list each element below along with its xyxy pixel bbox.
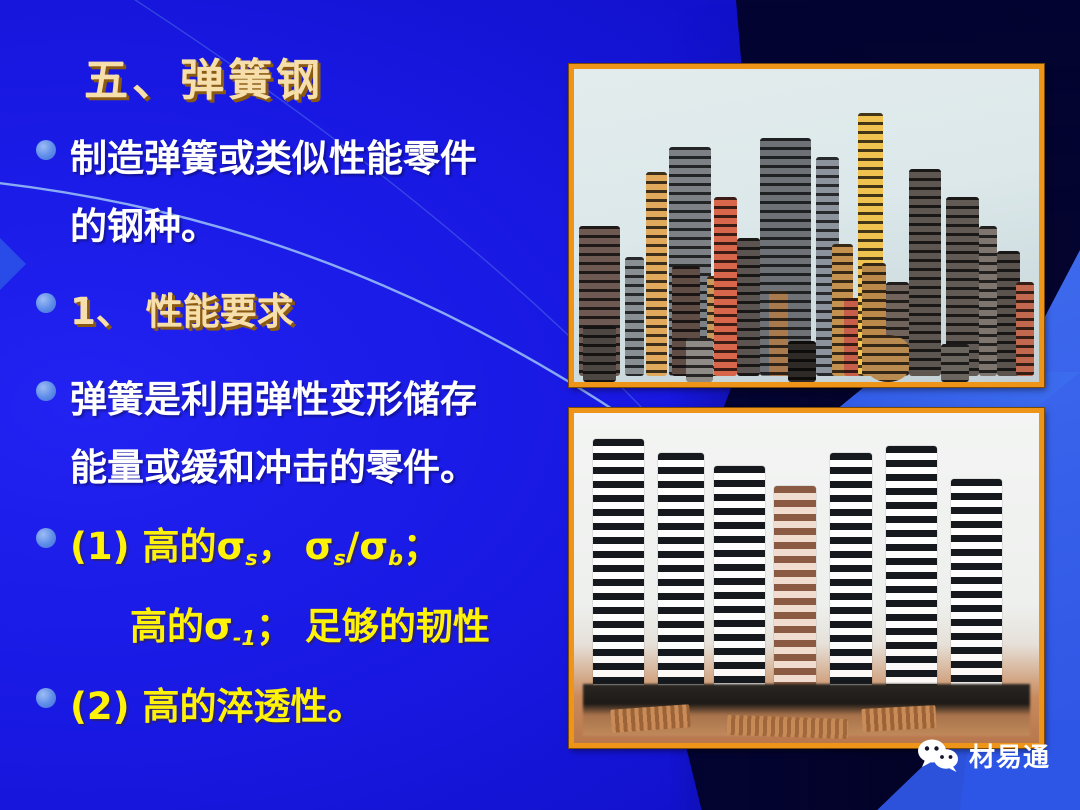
bullet-dot-icon: [36, 528, 56, 548]
bullet-text: 的钢种。: [70, 208, 218, 245]
sigma-glyph: σ: [359, 525, 388, 568]
bullet-text: 弹簧是利用弹性变形储存: [70, 381, 477, 418]
bullet-item-5: (2) 高的淬透性。: [36, 688, 364, 725]
bullet-item-4-cont: 高的σ-1；足够的韧性: [130, 608, 490, 645]
sigma-glyph: σ: [305, 525, 334, 568]
bullet-item-1-cont: 的钢种。: [36, 208, 218, 245]
page-title: 五、弹簧钢: [84, 44, 324, 108]
bullet-dot-icon: [36, 688, 56, 708]
requirement-formula-line-1: (1) 高的σs，σs/σb；: [70, 528, 440, 565]
sigma-glyph: σ: [204, 605, 233, 648]
wechat-icon: [917, 739, 961, 773]
watermark-label: 材易通: [969, 737, 1050, 774]
bullet-dot-icon: [36, 140, 56, 160]
image-content: [574, 413, 1039, 743]
formula-semicolon: ；: [256, 605, 293, 648]
formula-semicolon: ；: [403, 525, 440, 568]
image-springs-dark-coil-row: [569, 408, 1044, 748]
sigma-subscript-s: s: [333, 546, 345, 570]
section-heading-text: 1、 性能要求: [70, 293, 294, 330]
bullet-text: 能量或缓和冲击的零件。: [70, 449, 477, 486]
bullet-item-4: (1) 高的σs，σs/σb；: [36, 528, 440, 565]
sigma-subscript-minus1: -1: [233, 626, 256, 650]
bullet-indent-spacer: [36, 208, 56, 228]
formula-suffix: 足够的韧性: [305, 605, 490, 648]
watermark: 材易通: [917, 737, 1050, 774]
formula-comma: ，: [258, 525, 295, 568]
bullet-dot-icon: [36, 381, 56, 401]
bullet-item-1: 制造弹簧或类似性能零件: [36, 140, 477, 177]
formula-prefix: (1) 高的: [70, 525, 216, 568]
sigma-glyph: σ: [216, 525, 245, 568]
bullet-indent-spacer: [36, 449, 56, 469]
formula-slash: /: [346, 525, 360, 568]
requirement-formula-line-2: 高的σ-1；足够的韧性: [130, 608, 490, 645]
bullet-item-3: 弹簧是利用弹性变形储存: [36, 381, 477, 418]
image-content: [574, 69, 1039, 382]
bullet-item-2: 1、 性能要求: [36, 293, 294, 330]
bullet-item-3-cont: 能量或缓和冲击的零件。: [36, 449, 477, 486]
sigma-subscript-b: b: [388, 546, 403, 570]
sigma-subscript-s: s: [245, 546, 257, 570]
bullet-dot-icon: [36, 293, 56, 313]
bullet-text: 制造弹簧或类似性能零件: [70, 140, 477, 177]
presentation-slide: 五、弹簧钢 制造弹簧或类似性能零件 的钢种。 1、 性能要求 弹簧是利用弹性变形…: [0, 0, 1080, 810]
image-springs-assorted-colored: [569, 64, 1044, 387]
formula-prefix: 高的: [130, 605, 204, 648]
requirement-text: (2) 高的淬透性。: [70, 688, 364, 725]
